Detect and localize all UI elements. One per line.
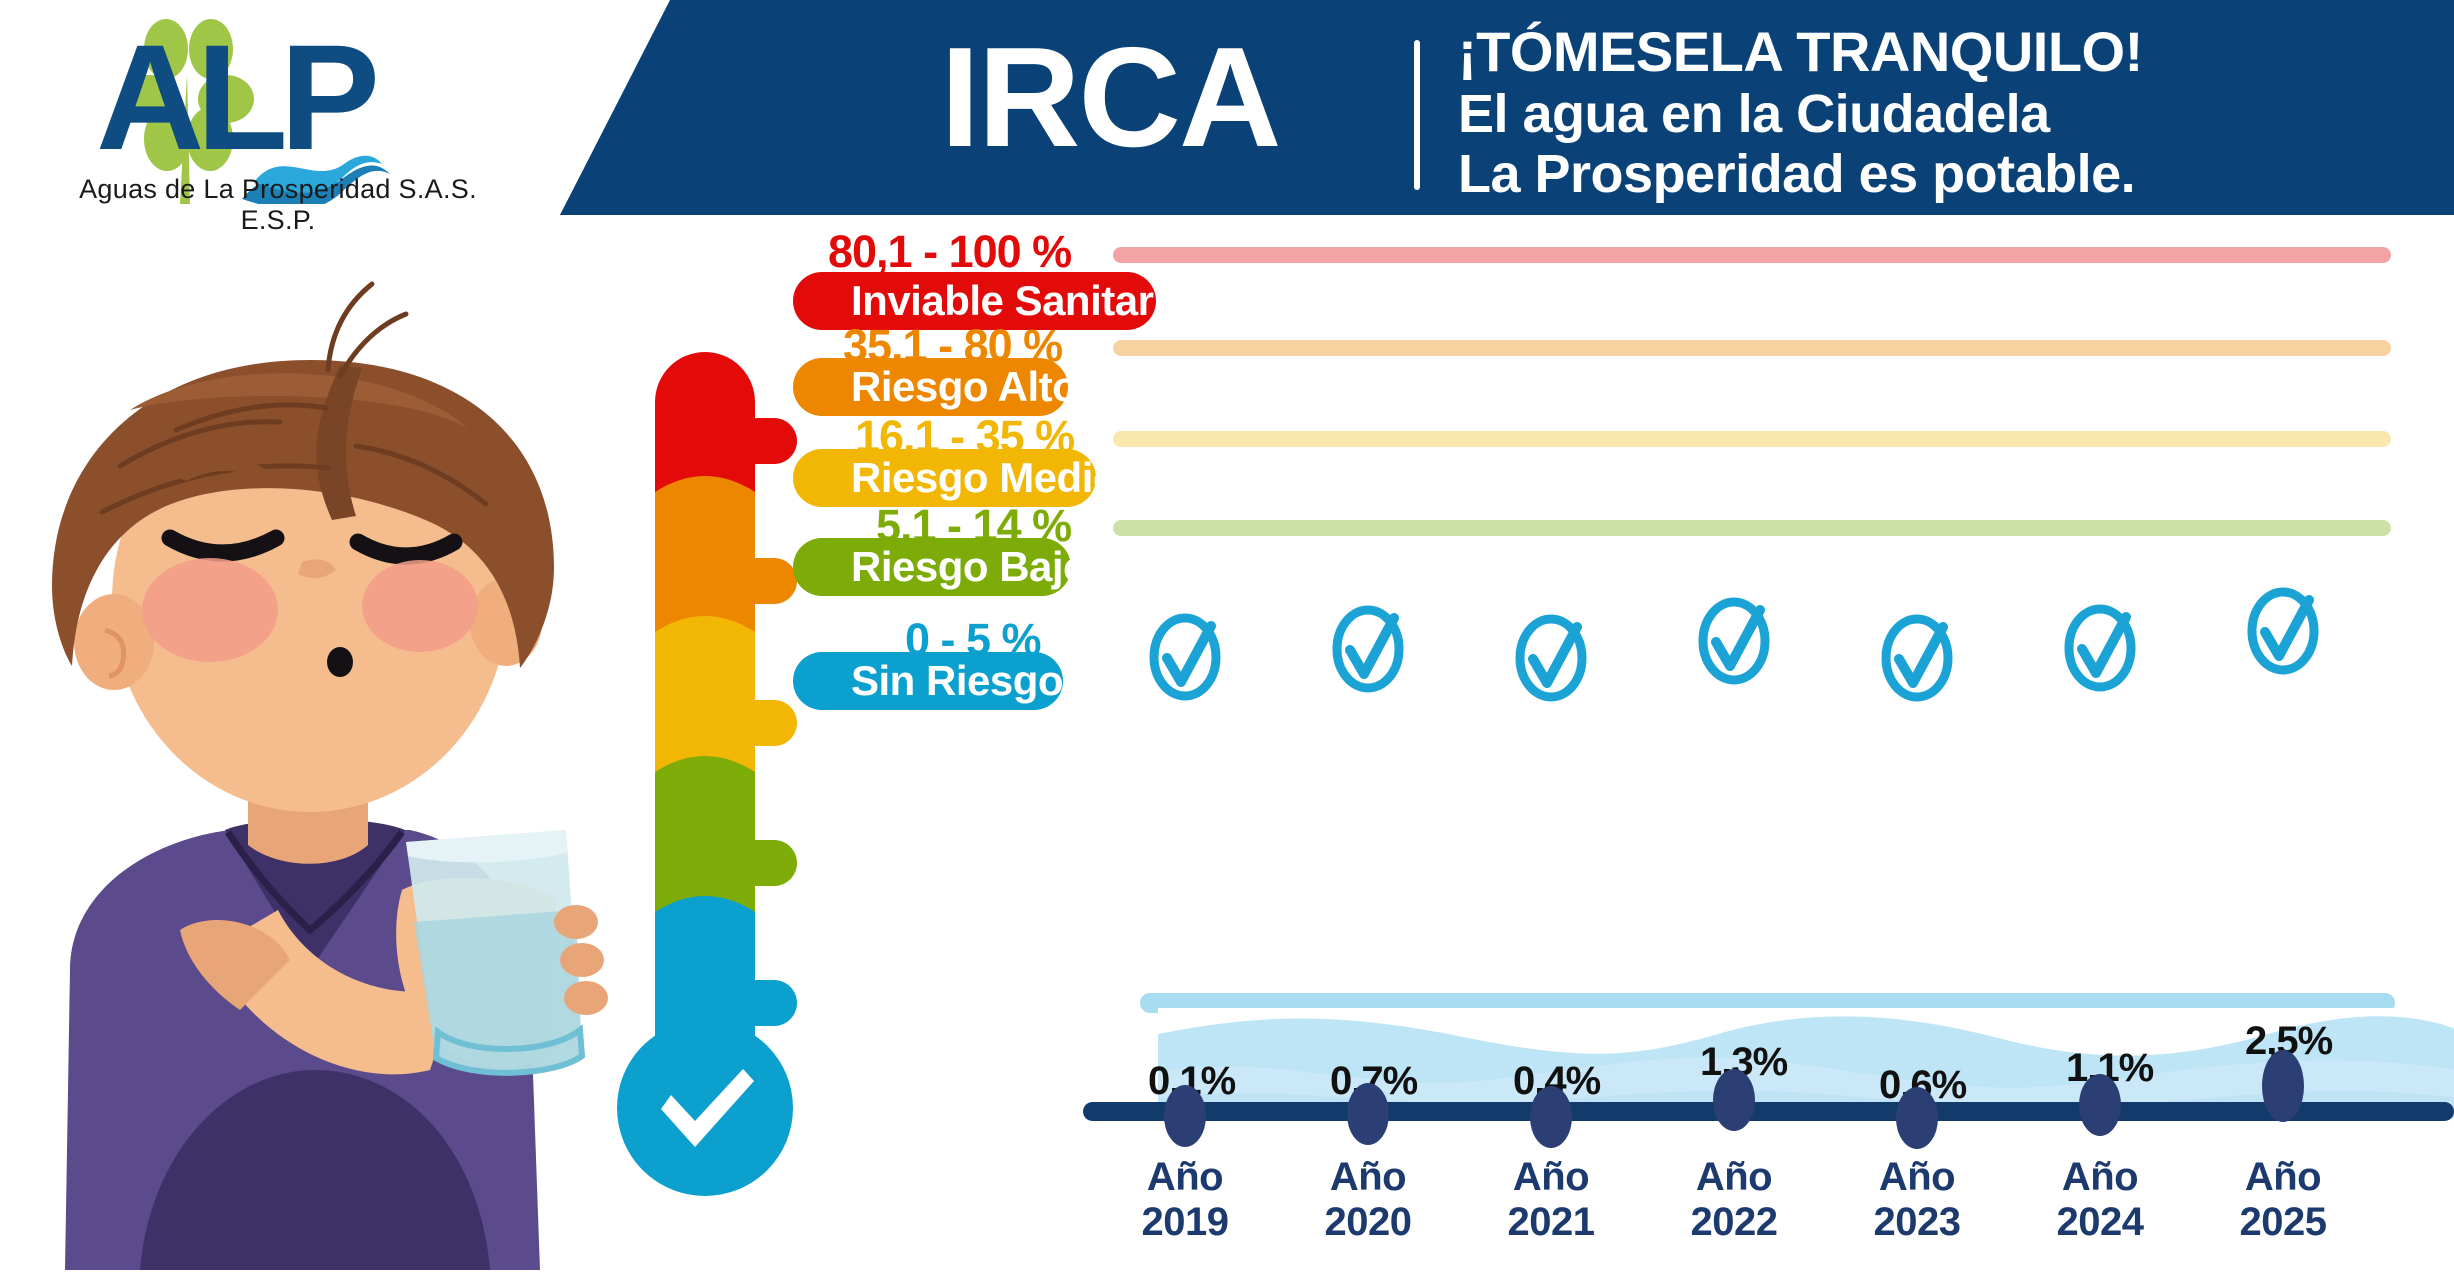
thermo-nub-orange (735, 558, 797, 604)
year-number: 2020 (1325, 1200, 1412, 1244)
thermo-nub-yellow (735, 700, 797, 746)
check-circle-icon (2245, 586, 2321, 676)
year-word: Año (1513, 1155, 1589, 1199)
check-circle-icon (1147, 612, 1223, 702)
scale-connector-3 (1113, 520, 2391, 536)
data-marker-2022 (1713, 1069, 1755, 1131)
x-axis-label-2021: Año 2021 (1471, 1155, 1631, 1245)
header-divider (1414, 40, 1420, 190)
year-number: 2023 (1874, 1200, 1961, 1244)
x-axis-label-2019: Año 2019 (1105, 1155, 1265, 1245)
infographic-canvas: IRCA ¡TÓMESELA TRANQUILO! El agua en la … (0, 0, 2454, 1270)
scale-label-1: Riesgo Alto (793, 358, 1068, 416)
logo-wordmark: ALP (96, 22, 372, 172)
header-line-3: La Prosperidad es potable. (1458, 146, 2448, 202)
check-circle-icon (1696, 596, 1772, 686)
header-subtitle: ¡TÓMESELA TRANQUILO! El agua en la Ciuda… (1458, 24, 2448, 202)
brand-logo: ALP Aguas de La Prosperidad S.A.S. E.S.P… (30, 14, 530, 204)
year-number: 2025 (2240, 1200, 2327, 1244)
x-axis-label-2025: Año 2025 (2203, 1155, 2363, 1245)
year-number: 2022 (1691, 1200, 1778, 1244)
logo-tagline: Aguas de La Prosperidad S.A.S. E.S.P. (38, 174, 518, 236)
check-circle-icon (1330, 604, 1406, 694)
header-headline: ¡TÓMESELA TRANQUILO! (1458, 24, 2448, 80)
year-number: 2024 (2057, 1200, 2144, 1244)
year-word: Año (1696, 1155, 1772, 1199)
check-circle-icon (1879, 613, 1955, 703)
year-word: Año (2062, 1155, 2138, 1199)
scale-range-0: 80,1 - 100 % (828, 226, 1071, 278)
x-axis-label-2024: Año 2024 (2020, 1155, 2180, 1245)
boy-drinking-water-illustration (10, 270, 630, 1270)
data-marker-2023 (1896, 1087, 1938, 1149)
data-marker-2019 (1164, 1085, 1206, 1147)
data-marker-2025 (2262, 1050, 2304, 1122)
header-banner-notch (560, 0, 820, 215)
x-axis-label-2020: Año 2020 (1288, 1155, 1448, 1245)
year-number: 2021 (1508, 1200, 1595, 1244)
check-circle-icon (1513, 613, 1589, 703)
thermo-nub-blue (735, 980, 797, 1026)
x-axis-label-2022: Año 2022 (1654, 1155, 1814, 1245)
check-circle-icon (2062, 603, 2138, 693)
thermo-nub-red (735, 418, 797, 464)
scale-connector-1 (1113, 340, 2391, 356)
data-marker-2020 (1347, 1083, 1389, 1145)
scale-connector-0 (1113, 247, 2391, 263)
check-icon (655, 1065, 759, 1151)
year-number: 2019 (1142, 1200, 1229, 1244)
scale-label-3: Riesgo Bajo (793, 538, 1071, 596)
header-line-2: El agua en la Ciudadela (1458, 86, 2448, 142)
scale-connector-2 (1113, 431, 2391, 447)
year-word: Año (1879, 1155, 1955, 1199)
scale-label-2: Riesgo Medio (793, 449, 1096, 507)
year-word: Año (1147, 1155, 1223, 1199)
scale-label-4: Sin Riesgo (793, 652, 1063, 710)
data-marker-2024 (2079, 1074, 2121, 1136)
x-axis-label-2023: Año 2023 (1837, 1155, 1997, 1245)
year-word: Año (1330, 1155, 1406, 1199)
page-title: IRCA (830, 18, 1390, 178)
thermo-nub-green (735, 840, 797, 886)
chart-axis-line (1083, 1102, 2454, 1121)
data-marker-2021 (1530, 1086, 1572, 1148)
year-word: Año (2245, 1155, 2321, 1199)
